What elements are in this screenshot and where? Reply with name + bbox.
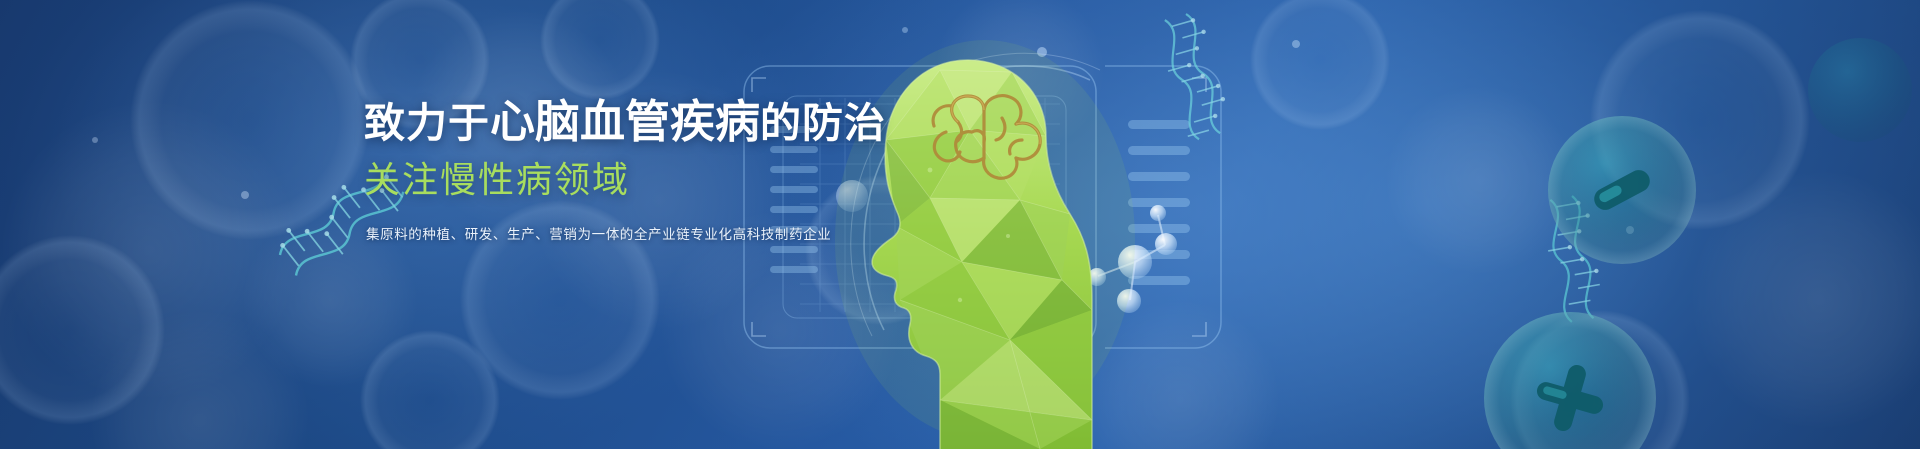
dna-helix-top-right: [1154, 10, 1234, 142]
headline-suffix: 的防治: [760, 100, 886, 146]
headline-emphasis: 心脑血管疾病: [490, 96, 760, 147]
banner-tagline: 集原料的种植、研发、生产、营销为一体的全产业链专业化高科技制药企业: [366, 225, 1064, 245]
banner-subline: 关注慢性病领域: [364, 157, 1064, 203]
headline-prefix: 致力于: [364, 100, 490, 146]
banner-headline: 致力于心脑血管疾病的防治: [364, 96, 1064, 149]
banner-copy: 致力于心脑血管疾病的防治 关注慢性病领域 集原料的种植、研发、生产、营销为一体的…: [364, 96, 1064, 245]
cell-top-right: [1548, 116, 1696, 264]
dna-helix-right: [1540, 194, 1608, 324]
hero-banner: 致力于心脑血管疾病的防治 关注慢性病领域 集原料的种植、研发、生产、营销为一体的…: [0, 0, 1920, 449]
cell-bottom-right: [1484, 312, 1656, 449]
